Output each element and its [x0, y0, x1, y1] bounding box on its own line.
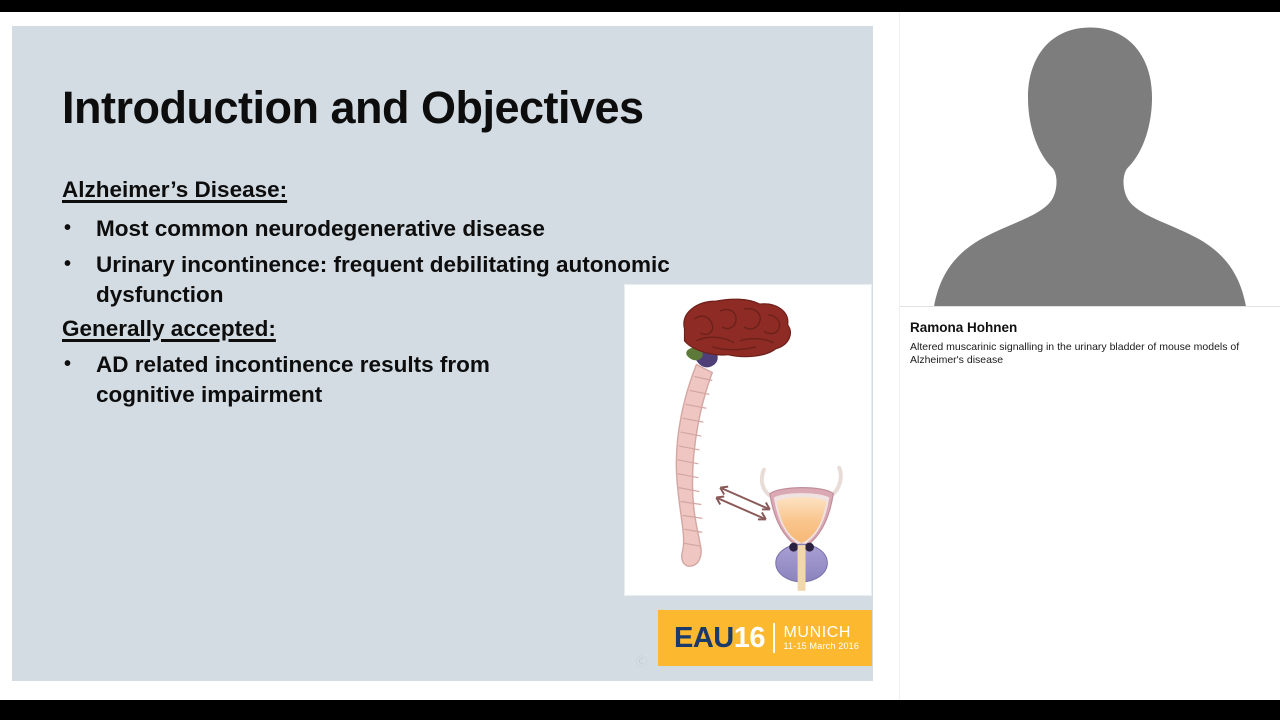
avatar [900, 12, 1280, 307]
bullet-text: Most common neurodegenerative disease [96, 214, 762, 244]
lecture-viewer: Introduction and Objectives Alzheimer’s … [0, 0, 1280, 720]
brain-spine-bladder-illustration [625, 285, 871, 595]
eau-wordmark: EAU16 [674, 624, 765, 653]
person-placeholder-icon [900, 12, 1280, 306]
copyright-watermark: Ⓒ [636, 653, 647, 669]
eau-brand: EAU [674, 622, 734, 654]
section-heading-alzheimers-disease: Alzheimer’s Disease: [62, 177, 762, 203]
brain-icon [684, 299, 790, 357]
anatomical-figure [624, 284, 872, 596]
eau-year: 16 [734, 622, 765, 654]
bullet-text: AD related incontinence results from cog… [96, 350, 582, 410]
urethra-icon [798, 545, 806, 591]
logo-divider [773, 623, 775, 653]
letterbox-top [0, 0, 1280, 12]
bullet-glyph-icon: • [62, 214, 96, 243]
letterbox-bottom [0, 700, 1280, 720]
eau16-logo: EAU16 MUNICH 11-15 March 2016 [658, 610, 872, 666]
eau-dates: 11-15 March 2016 [784, 642, 860, 652]
bullet-item: • AD related incontinence results from c… [62, 350, 582, 410]
section-heading-text: Alzheimer’s Disease: [62, 177, 287, 202]
bullet-glyph-icon: • [62, 250, 96, 279]
eau-event-info: MUNICH 11-15 March 2016 [784, 624, 860, 652]
bullet-item: • Most common neurodegenerative disease [62, 214, 762, 244]
speaker-details: Ramona Hohnen Altered muscarinic signall… [900, 308, 1280, 382]
speaker-panel: Ramona Hohnen Altered muscarinic signall… [900, 12, 1280, 700]
section-heading-text: Generally accepted: [62, 316, 276, 341]
slide-viewport[interactable]: Introduction and Objectives Alzheimer’s … [0, 12, 900, 700]
talk-title: Altered muscarinic signalling in the uri… [910, 341, 1266, 368]
presentation-slide: Introduction and Objectives Alzheimer’s … [12, 26, 873, 681]
slide-title: Introduction and Objectives [62, 82, 644, 134]
speaker-name: Ramona Hohnen [910, 320, 1266, 337]
eau-city: MUNICH [784, 624, 860, 641]
bullet-glyph-icon: • [62, 350, 96, 379]
